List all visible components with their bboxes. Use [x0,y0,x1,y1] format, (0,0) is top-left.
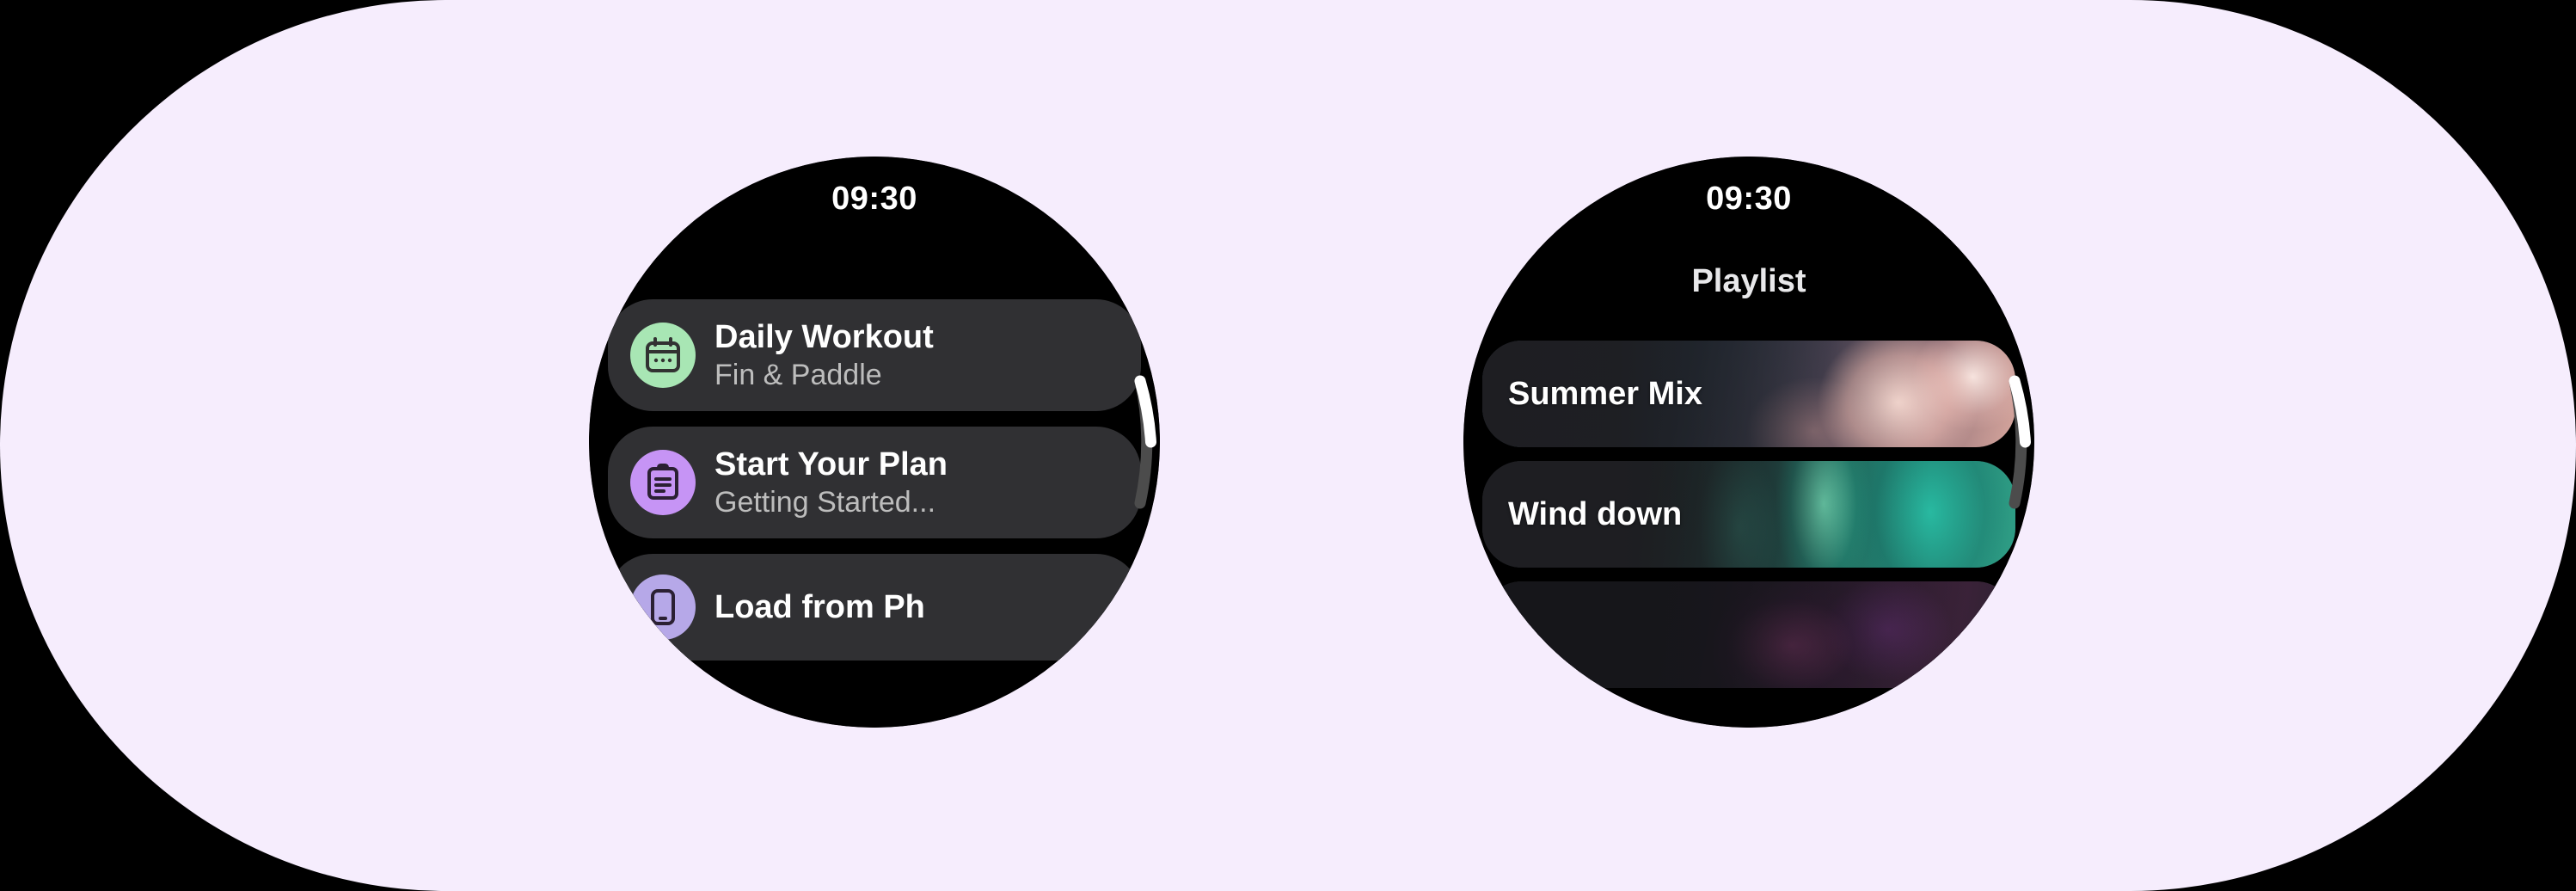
lavender-backdrop [0,0,2576,891]
screenshot-stage: 09:30 [0,0,2576,891]
phone-icon [630,575,696,640]
playlist-tile-list[interactable]: Summer Mix Wind down [1482,341,2015,688]
list-item-text: Start Your Plan Getting Started... [715,445,948,519]
watch-right-screen: 09:30 Playlist Summer Mix Wind down [1463,157,2034,728]
list-item[interactable]: Daily Workout Fin & Paddle [608,299,1141,411]
list-item-title: Wind down [1482,496,1682,533]
list-item-title: Daily Workout [715,318,934,356]
list-item-title: Start Your Plan [715,445,948,483]
page-title: Playlist [1463,263,2034,300]
scrollbar-track [2015,381,2021,503]
list-item-text: Load from Ph [715,588,925,626]
scrollbar-thumb[interactable] [1140,381,1151,442]
list-item-text: Daily Workout Fin & Paddle [715,318,934,392]
watch-left-screen: 09:30 [589,157,1160,728]
list-item[interactable]: Wind down [1482,461,2015,568]
list-item-title: Load from Ph [715,588,925,626]
status-time: 09:30 [1463,181,2034,218]
list-item[interactable]: Summer Mix [1482,341,2015,447]
calendar-icon [630,323,696,388]
status-time: 09:30 [589,181,1160,218]
scrollbar-thumb[interactable] [2015,381,2026,442]
list-item[interactable]: Load from Ph [608,554,1141,661]
watch-right: 09:30 Playlist Summer Mix Wind down [1463,157,2034,728]
clipboard-icon [630,450,696,515]
scrollbar-track [1140,381,1147,503]
watch-left: 09:30 [589,157,1160,728]
list-item-subtitle: Fin & Paddle [715,358,934,392]
list-item-subtitle: Getting Started... [715,485,948,519]
list-item-title: Summer Mix [1482,376,1702,413]
notification-card-list[interactable]: Daily Workout Fin & Paddle [608,299,1141,661]
list-item[interactable] [1482,581,2015,688]
list-item[interactable]: Start Your Plan Getting Started... [608,427,1141,538]
tile-scrim [1482,581,2015,688]
